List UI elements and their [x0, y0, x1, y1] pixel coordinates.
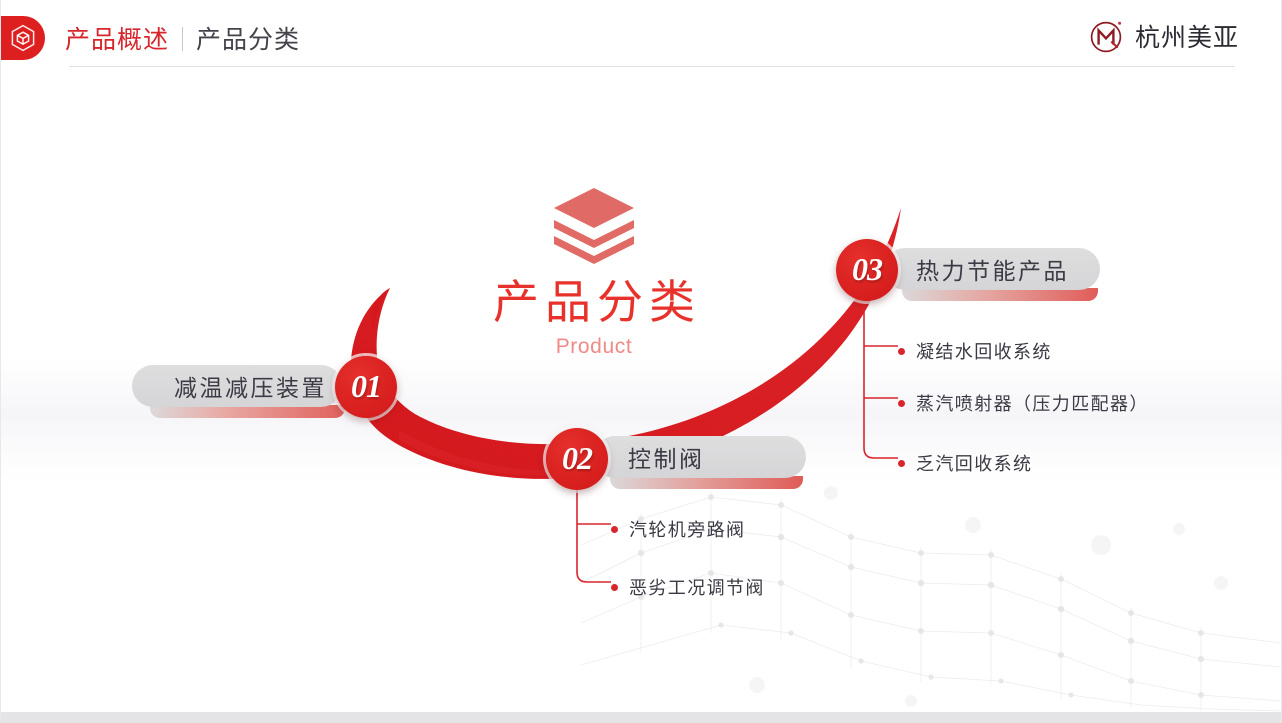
- header-title-separator: [182, 27, 183, 51]
- bullet-dot-icon: [898, 348, 905, 355]
- sub-item-label: 乏汽回收系统: [916, 450, 1032, 476]
- stage-pill-03[interactable]: 热力节能产品: [884, 248, 1100, 290]
- stage-item-01[interactable]: 减温减压装置 01: [132, 365, 342, 407]
- stage-badge-03[interactable]: 03: [836, 239, 898, 301]
- sub-item-label: 汽轮机旁路阀: [629, 516, 745, 542]
- header-title-current[interactable]: 产品分类: [196, 20, 300, 56]
- stage-badge-02[interactable]: 02: [546, 428, 608, 490]
- header-divider-rule: [69, 66, 1235, 67]
- stage-label-01: 减温减压装置: [174, 369, 327, 403]
- sub-item-group-03: 凝结水回收系统 蒸汽喷射器（压力匹配器） 乏汽回收系统: [858, 288, 1158, 468]
- stage-item-03[interactable]: 热力节能产品 03: [834, 248, 1100, 290]
- brand-lockup: 杭州美亚: [1087, 16, 1239, 56]
- center-title: 产品分类: [451, 276, 737, 329]
- slide-canvas: 产品概述 产品分类 杭州美亚: [0, 0, 1282, 723]
- stage-badge-01[interactable]: 01: [335, 356, 397, 418]
- stage-item-02[interactable]: 控制阀 02: [540, 436, 806, 478]
- circle-m-logo-icon: [1087, 16, 1127, 56]
- footer-band: [1, 712, 1281, 723]
- center-title-block: 产品分类 Product: [451, 186, 737, 359]
- center-subtitle: Product: [451, 335, 737, 359]
- stage-number-02: 02: [562, 440, 592, 477]
- sub-item[interactable]: 汽轮机旁路阀: [611, 516, 745, 542]
- layers-stack-icon: [550, 186, 638, 264]
- sub-item[interactable]: 凝结水回收系统: [898, 338, 1052, 364]
- sub-item[interactable]: 恶劣工况调节阀: [611, 574, 765, 600]
- stage-number-03: 03: [852, 251, 882, 288]
- sub-item[interactable]: 蒸汽喷射器（压力匹配器）: [898, 390, 1149, 416]
- sub-connector-lines-03: [858, 288, 1158, 468]
- brand-name: 杭州美亚: [1135, 18, 1239, 54]
- stage-number-01: 01: [351, 368, 381, 405]
- header-breadcrumb: 产品概述 产品分类: [65, 20, 300, 56]
- stage-pill-02[interactable]: 控制阀: [594, 436, 806, 478]
- stage-label-03: 热力节能产品: [916, 252, 1069, 286]
- sub-item-label: 凝结水回收系统: [916, 338, 1052, 364]
- bullet-dot-icon: [611, 584, 618, 591]
- slide-header: 产品概述 产品分类 杭州美亚: [1, 0, 1282, 76]
- sub-item-label: 蒸汽喷射器（压力匹配器）: [916, 390, 1149, 416]
- hexagon-cube-icon: [0, 16, 45, 60]
- bullet-dot-icon: [898, 400, 905, 407]
- bullet-dot-icon: [611, 526, 618, 533]
- stage-label-02: 控制阀: [628, 440, 705, 474]
- stage-pill-01[interactable]: 减温减压装置: [132, 365, 342, 407]
- header-title-active[interactable]: 产品概述: [65, 20, 169, 56]
- bullet-dot-icon: [898, 460, 905, 467]
- sub-item-group-02: 汽轮机旁路阀 恶劣工况调节阀: [571, 480, 831, 600]
- sub-item[interactable]: 乏汽回收系统: [898, 450, 1032, 476]
- sub-item-label: 恶劣工况调节阀: [629, 574, 765, 600]
